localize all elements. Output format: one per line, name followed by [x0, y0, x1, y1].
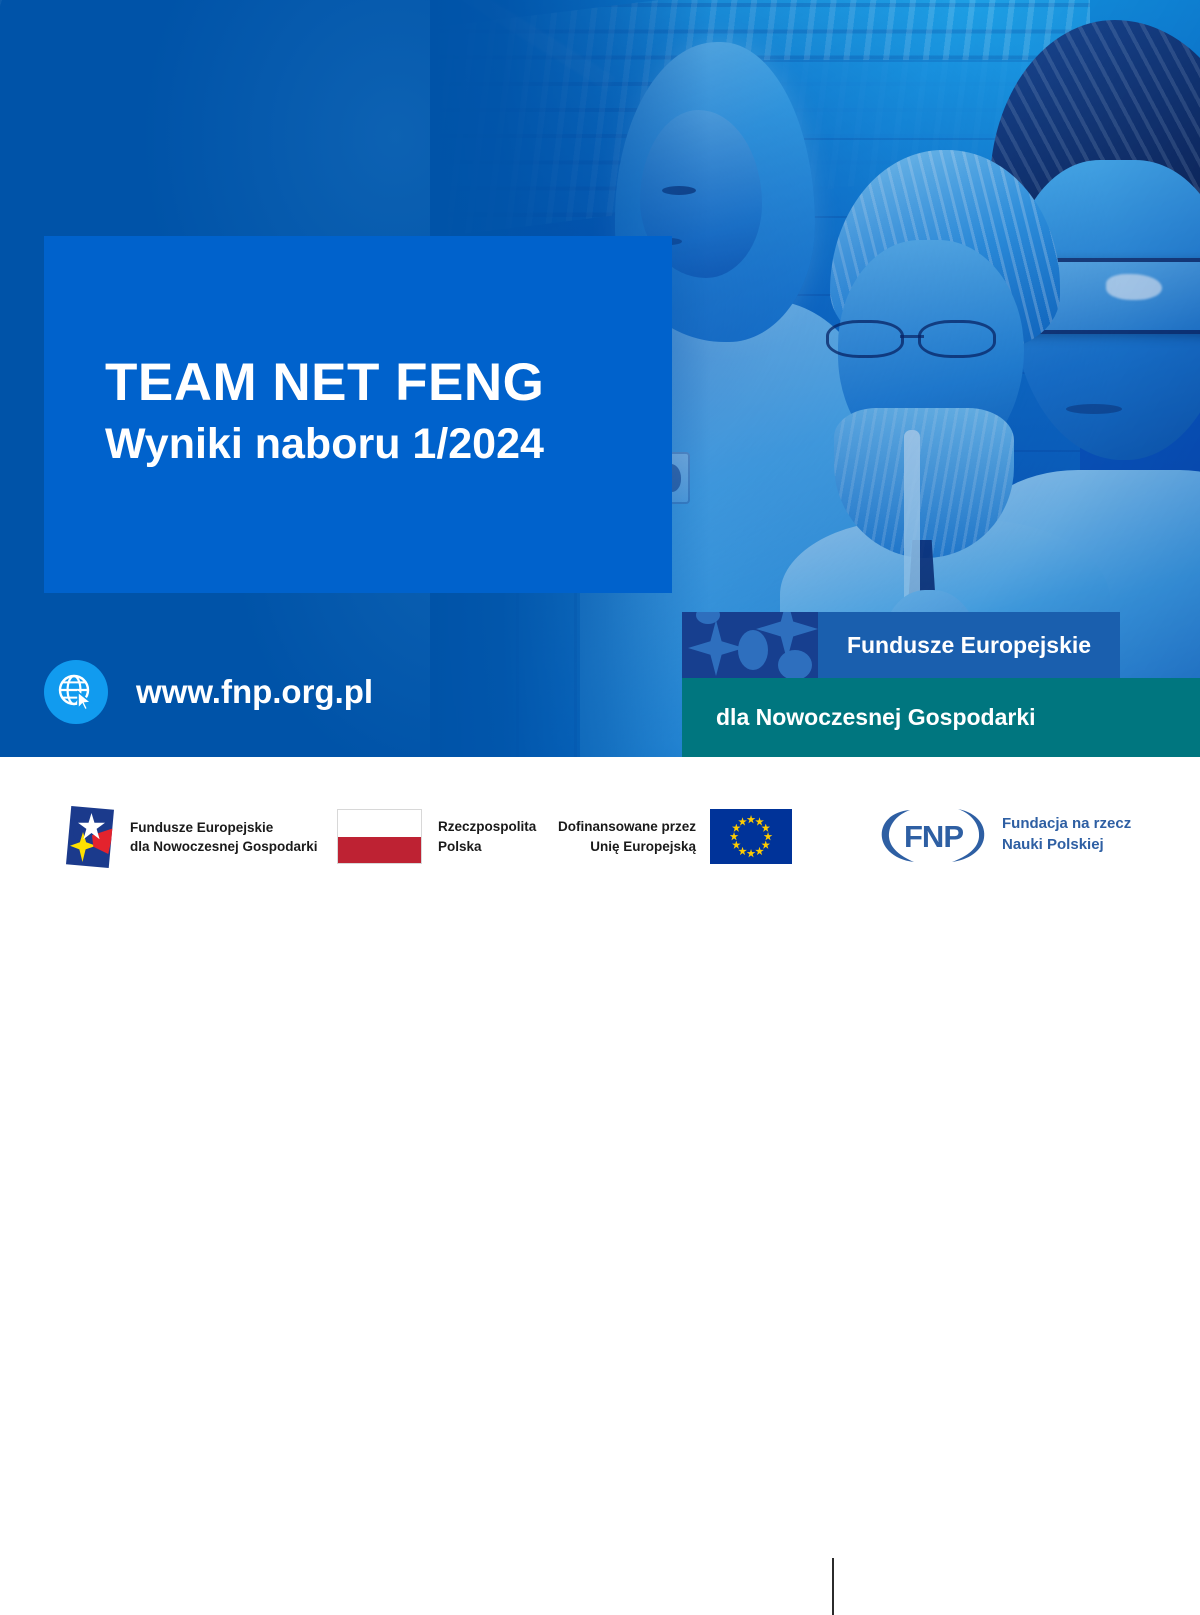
logo-fnp-line2: Nauki Polskiej: [1002, 836, 1104, 853]
logo-fnp-line1: Fundacja na rzecz: [1002, 815, 1131, 832]
fnp-wordmark: FNP: [904, 819, 963, 855]
logo-pl-line2: Polska: [438, 839, 482, 854]
logo-eu-text: Dofinansowane przez Unię Europejską: [558, 817, 696, 855]
logo-rzeczpospolita-polska: Rzeczpospolita Polska: [337, 809, 536, 864]
logo-fnp-text: Fundacja na rzecz Nauki Polskiej: [1002, 814, 1131, 855]
footer-divider: [832, 1558, 834, 1615]
hero-banner: TEAM NET FENG Wyniki naboru 1/2024 www.f…: [0, 0, 1200, 757]
logo-row: Fundusze Europejskie dla Nowoczesnej Gos…: [0, 757, 1200, 900]
page-title: TEAM NET FENG: [105, 352, 544, 413]
logo-eu-line1: Dofinansowane przez: [558, 819, 696, 834]
logo-fundusze-europejskie: Fundusze Europejskie dla Nowoczesnej Gos…: [66, 806, 318, 868]
programme-banner-top: Fundusze Europejskie: [682, 612, 1120, 678]
programme-banner-line2: dla Nowoczesnej Gospodarki: [716, 704, 1036, 731]
title-panel: TEAM NET FENG Wyniki naboru 1/2024: [44, 236, 672, 593]
logo-eu-line2: Unię Europejską: [590, 839, 696, 854]
logo-pl-line1: Rzeczpospolita: [438, 819, 536, 834]
fnp-logo-icon: FNP: [880, 806, 988, 864]
logo-fe-line1: Fundusze Europejskie: [130, 820, 273, 835]
logo-dofinansowane-przez-ue: Dofinansowane przez Unię Europejską: [558, 809, 792, 864]
eu-flag-icon: [710, 809, 792, 864]
website-url[interactable]: www.fnp.org.pl: [136, 673, 373, 711]
website-link[interactable]: www.fnp.org.pl: [44, 660, 373, 724]
poland-flag-icon: [337, 809, 422, 864]
logo-fnp: FNP Fundacja na rzecz Nauki Polskiej: [880, 806, 1131, 864]
footer-logo-bar: Fundusze Europejskie dla Nowoczesnej Gos…: [0, 757, 1200, 900]
logo-pl-text: Rzeczpospolita Polska: [438, 817, 536, 855]
programme-banner-bottom: dla Nowoczesnej Gospodarki: [682, 678, 1200, 757]
logo-fe-text: Fundusze Europejskie dla Nowoczesnej Gos…: [130, 818, 318, 856]
page-subtitle: Wyniki naboru 1/2024: [105, 420, 544, 469]
poster: TEAM NET FENG Wyniki naboru 1/2024 www.f…: [0, 0, 1200, 900]
eu-funds-flag-icon: [66, 806, 114, 868]
programme-star-pattern-icon: [682, 612, 818, 678]
logo-fe-line2: dla Nowoczesnej Gospodarki: [130, 839, 318, 854]
globe-cursor-icon: [44, 660, 108, 724]
programme-banner-line1: Fundusze Europejskie: [818, 612, 1120, 678]
